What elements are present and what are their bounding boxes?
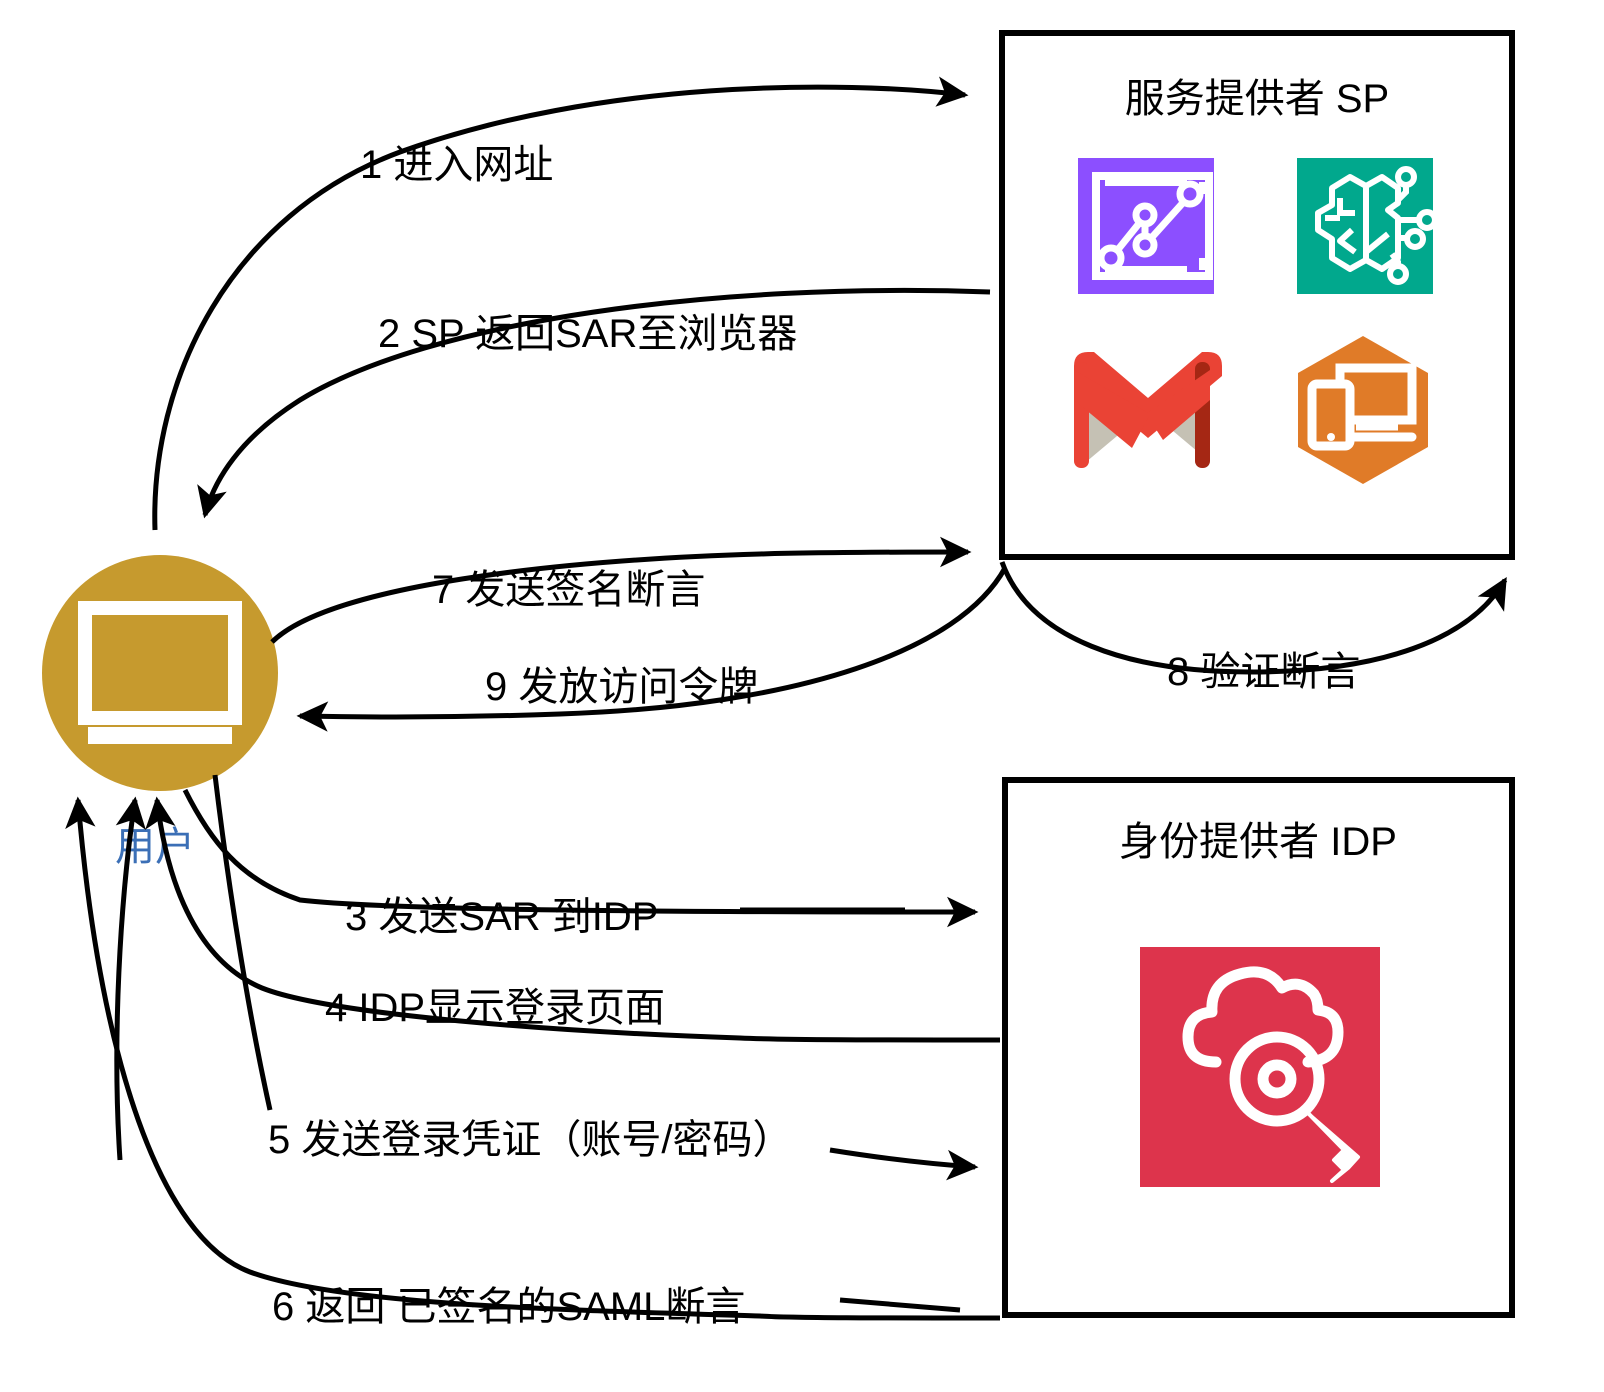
flow-connector-6 (840, 1300, 960, 1310)
flow-feeder-user-bottom (215, 775, 270, 1110)
step-label-7: 7 发送签名断言 (432, 568, 705, 612)
step-label-4: 4 IDP显示登录页面 (325, 986, 665, 1030)
sp-box-title: 服务提供者 SP (1125, 77, 1389, 121)
step-label-1: 1 进入网址 (360, 143, 553, 187)
step-label-8: 8 验证断言 (1167, 650, 1360, 694)
flow-arrow-1 (155, 87, 965, 530)
identity-provider-box: 身份提供者 IDP (1005, 780, 1512, 1315)
machine-learning-icon (1297, 158, 1435, 294)
flow-arrow-6 (78, 800, 1000, 1318)
idp-box-title: 身份提供者 IDP (1119, 820, 1397, 864)
flow-arrow-5-tail (830, 1150, 975, 1167)
step-label-9: 9 发放访问令牌 (485, 665, 758, 709)
flow-arrow-3 (185, 790, 975, 912)
cloud-key-icon (1140, 947, 1380, 1187)
step-label-5: 5 发送登录凭证（账号/密码） (268, 1118, 792, 1162)
analytics-icon (1078, 158, 1214, 294)
saml-flow-diagram: 服务提供者 SP (0, 0, 1604, 1392)
step-label-2: 2 SP 返回SAR至浏览器 (378, 312, 797, 356)
diagram-canvas: 服务提供者 SP (0, 0, 1604, 1392)
step-label-3: 3 发送SAR 到IDP (345, 895, 658, 939)
step-label-6: 6 返回 已签名的SAML断言 (272, 1285, 745, 1329)
service-provider-box: 服务提供者 SP (1002, 33, 1512, 557)
user-circle (42, 555, 278, 791)
